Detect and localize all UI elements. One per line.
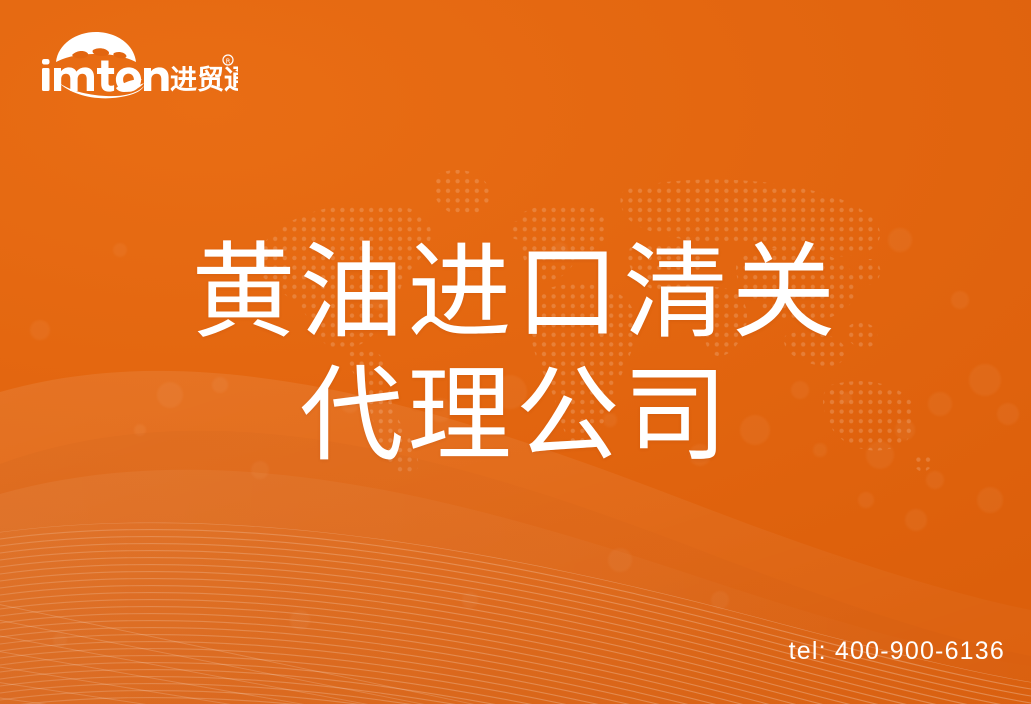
page-title: 黄油进口清关 代理公司	[0, 232, 1031, 477]
svg-text:R: R	[226, 57, 231, 65]
headline-line-1: 黄油进口清关	[0, 232, 1031, 355]
logo-wordmark	[42, 59, 169, 92]
headline-line-2: 代理公司	[0, 355, 1031, 478]
registered-trademark-icon: R	[223, 55, 233, 65]
contact-phone[interactable]: tel: 400-900-6136	[789, 637, 1005, 666]
brand-logo[interactable]: 进贸通 R	[38, 26, 238, 102]
globe-icon	[56, 32, 136, 62]
logo-chinese-name: 进贸通	[170, 65, 238, 96]
promo-banner: 进贸通 R 黄油进口清关 代理公司 tel: 400-900-6136	[0, 0, 1031, 704]
